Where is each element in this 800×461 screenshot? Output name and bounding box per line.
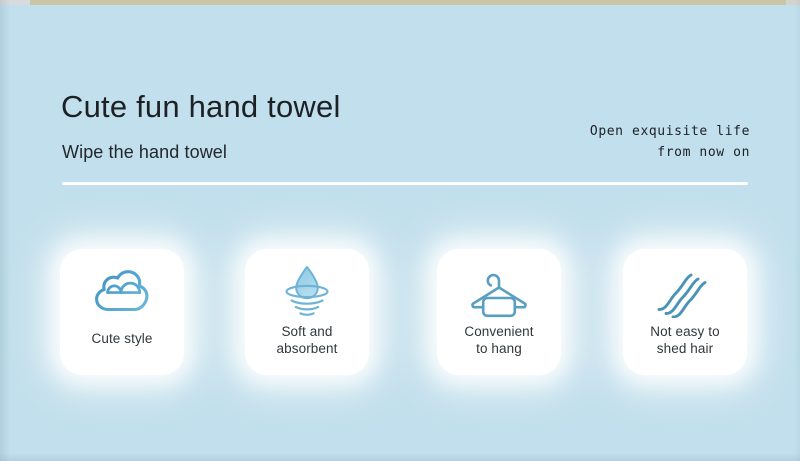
feature-card-convenient-to-hang[interactable]: Convenient to hang [437, 249, 561, 375]
page-title: Cute fun hand towel [61, 88, 341, 126]
top-edge-strip [0, 0, 800, 5]
feature-card-label: Convenient to hang [464, 323, 533, 357]
cloud-icon [87, 263, 157, 321]
slogan: Open exquisite life from now on [590, 121, 750, 163]
feature-card-cute-style[interactable]: Cute style [60, 249, 184, 375]
wavy-hair-lines-icon [650, 263, 720, 321]
feature-card-label: Soft and absorbent [277, 323, 338, 357]
slogan-line-2: from now on [590, 142, 750, 163]
water-drop-ripple-icon [272, 263, 342, 321]
slogan-line-1: Open exquisite life [590, 121, 750, 142]
top-edge-strip-left-segment [0, 0, 30, 5]
top-edge-strip-right-segment [786, 0, 800, 5]
product-banner: Cute fun hand towel Wipe the hand towel … [0, 0, 800, 461]
feature-card-label: Cute style [91, 330, 152, 347]
horizontal-divider [62, 182, 748, 185]
feature-card-not-easy-to-shed-hair[interactable]: Not easy to shed hair [623, 249, 747, 375]
clothes-hanger-icon [464, 263, 534, 321]
page-subtitle: Wipe the hand towel [62, 140, 227, 164]
feature-card-list: Cute style [0, 249, 800, 377]
feature-card-soft-and-absorbent[interactable]: Soft and absorbent [245, 249, 369, 375]
feature-card-label: Not easy to shed hair [650, 323, 719, 357]
